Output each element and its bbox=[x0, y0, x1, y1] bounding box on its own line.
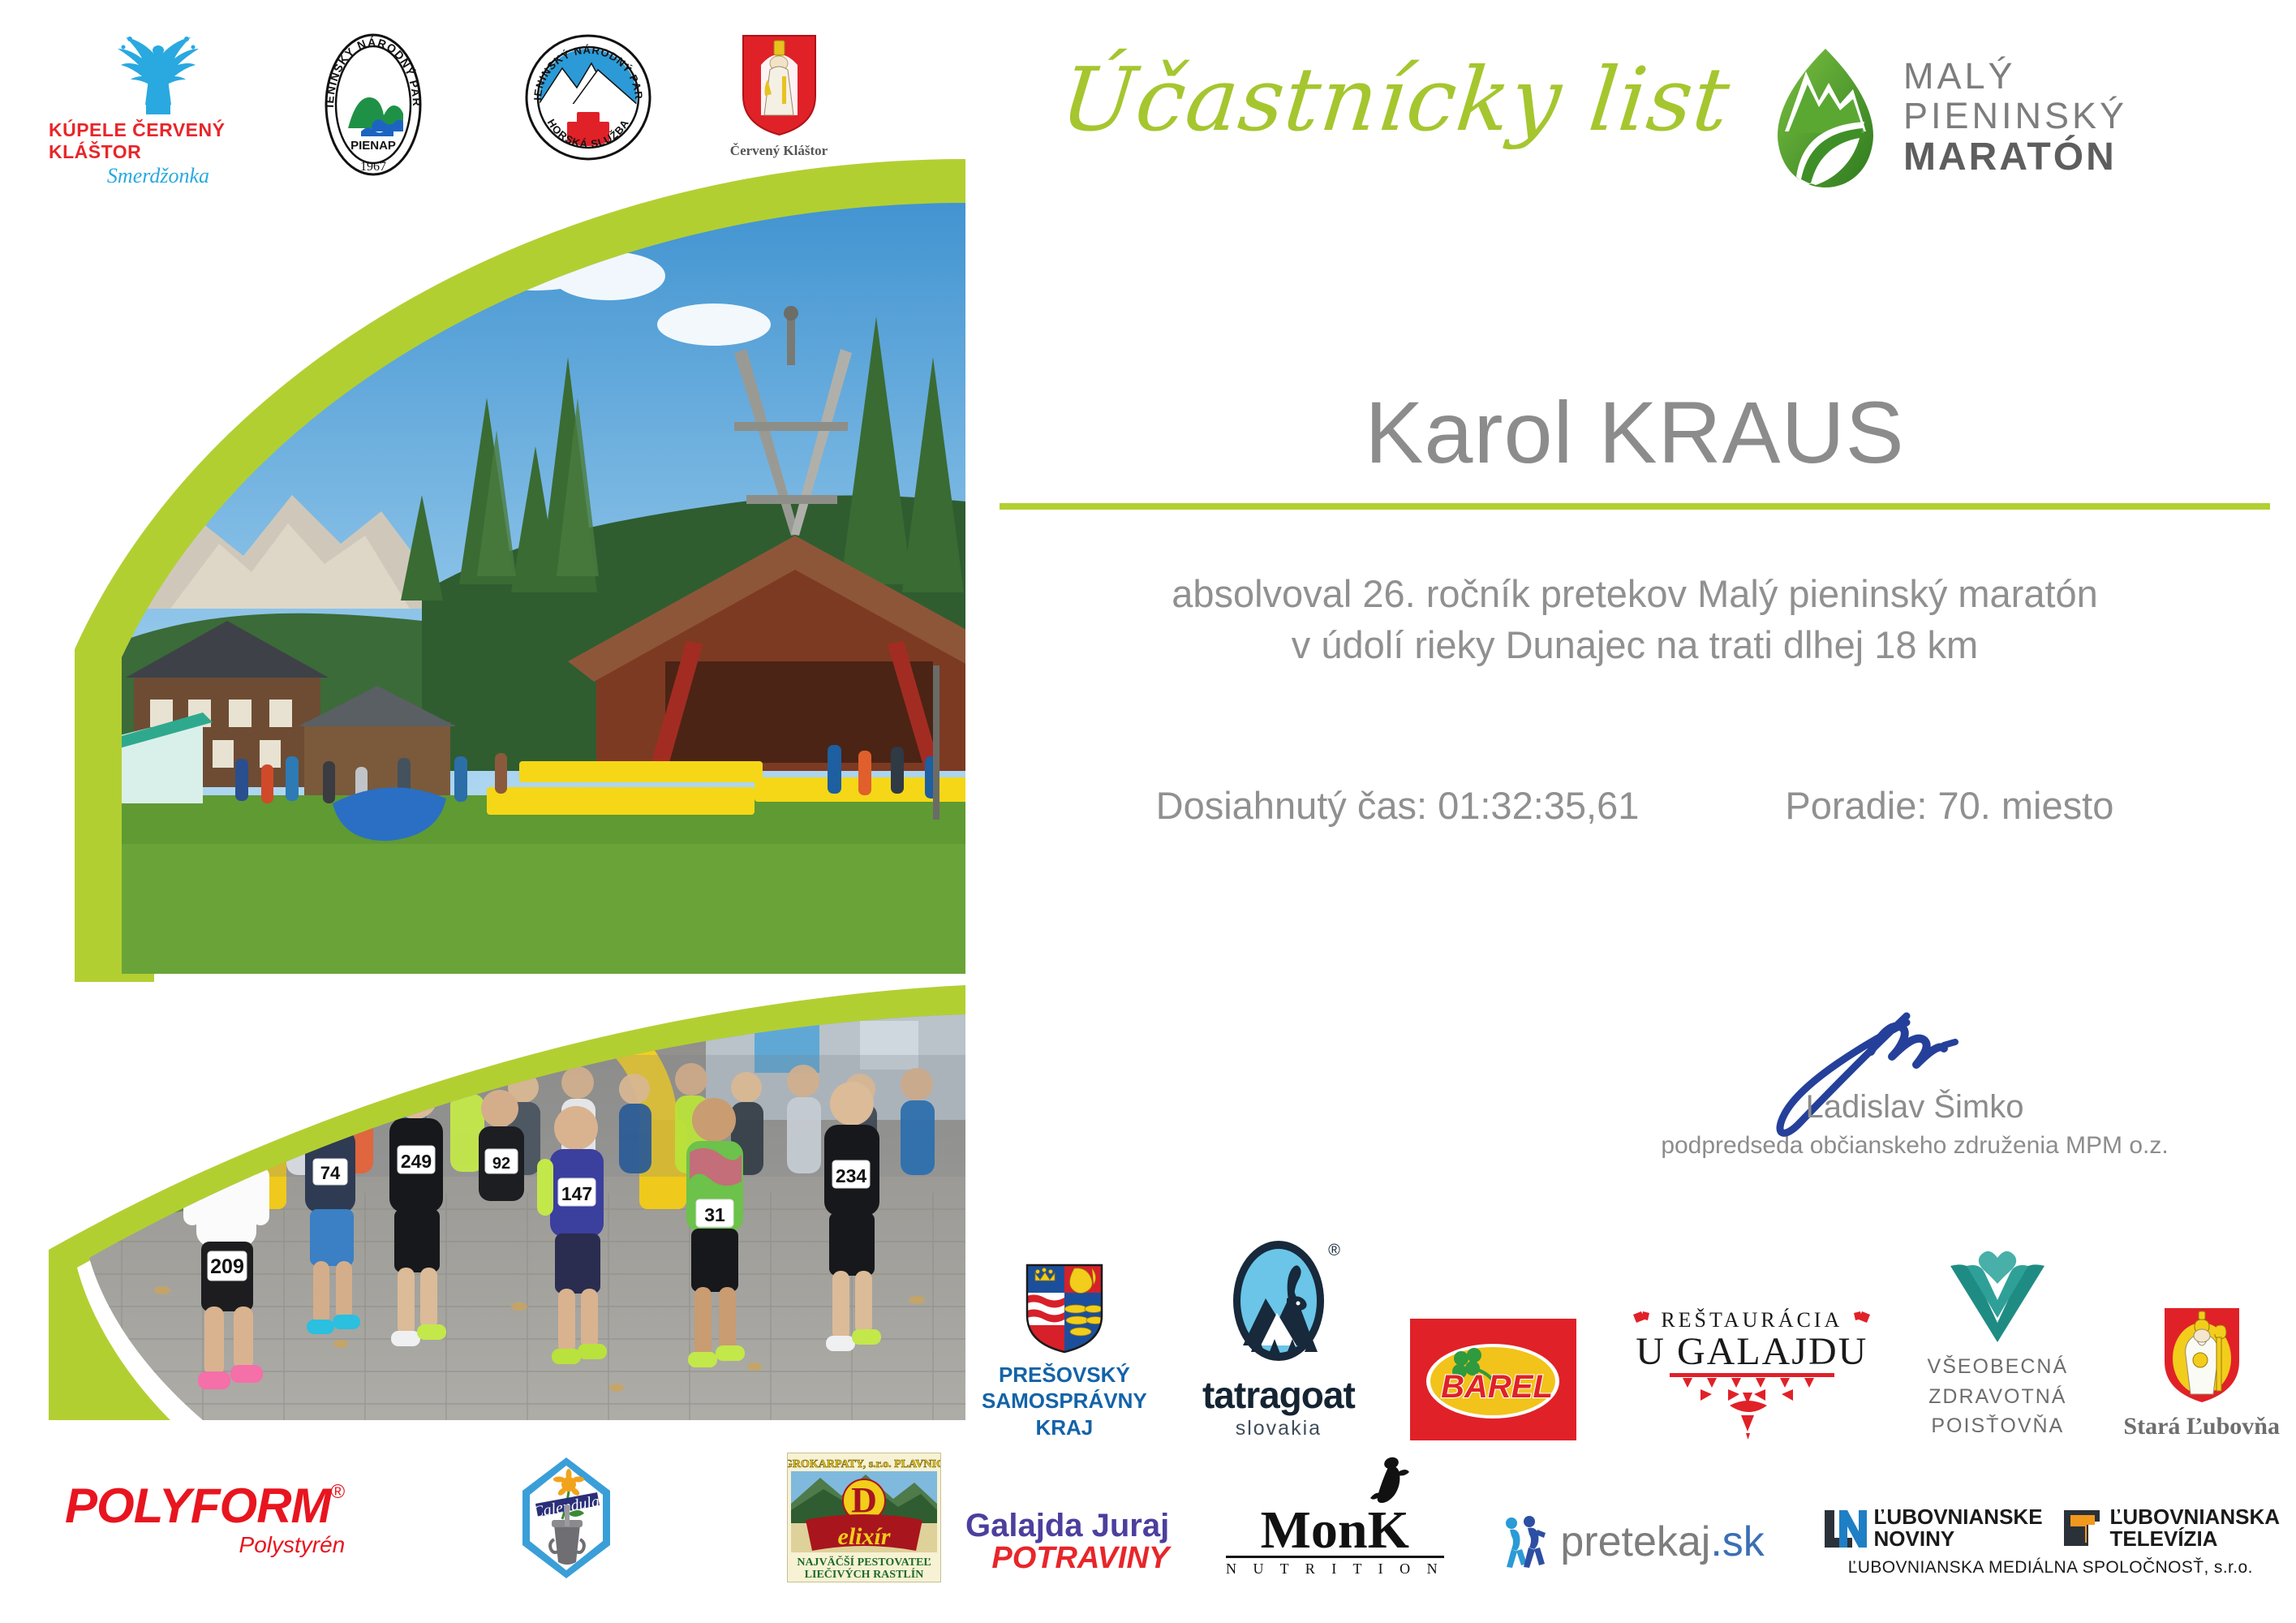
ln-label: ĽUBOVNIANSKE NOVINY bbox=[1874, 1506, 2043, 1551]
sponsor-vseobecna-zdravotna-poistovna: VŠEOBECNÁ ZDRAVOTNÁ POISŤOVŇA bbox=[1928, 1246, 2069, 1440]
svg-text:PIENINSKÝ MARATÓN: PIENINSKÝ MARATÓN bbox=[380, 1012, 562, 1031]
u-galajdu-line1: REŠTAURÁCIA bbox=[1661, 1308, 1842, 1332]
sponsor-u-galajdu: REŠTAURÁCIA U GALAJDU bbox=[1632, 1308, 1872, 1440]
galajda-line2: POTRAVINY bbox=[991, 1541, 1169, 1576]
amphitheatre-photo bbox=[97, 187, 965, 990]
svg-text:MALÝ: MALÝ bbox=[446, 992, 495, 1012]
psk-crest-icon bbox=[1024, 1262, 1105, 1355]
sponsor-lubovnianska-televizia: ĽUBOVNIANSKA TELEVÍZIA bbox=[2061, 1506, 2280, 1551]
svg-text:249: 249 bbox=[401, 1151, 432, 1172]
elixir-label: elixír bbox=[837, 1523, 890, 1550]
folk-ornament-icon bbox=[1632, 1310, 1653, 1331]
page-title: Účastnícky list bbox=[1009, 57, 1781, 144]
polyform-label: POLYFORM bbox=[65, 1478, 331, 1534]
ln-mark-icon bbox=[1821, 1507, 1867, 1549]
svg-text:D: D bbox=[851, 1480, 877, 1520]
vzp-mark-icon bbox=[1946, 1246, 2049, 1344]
agrokarpaty-elixir-icon: AGROKARPATY, s.r.o. PLAVNICA D elixír NA… bbox=[788, 1453, 940, 1582]
runners-icon bbox=[1500, 1515, 1549, 1569]
sponsor-lubovnianska-medialna: ĽUBOVNIANSKE NOVINY ĽUBOVNIANSKA TELEVÍZ… bbox=[1821, 1506, 2280, 1578]
vzp-label: VŠEOBECNÁ ZDRAVOTNÁ POISŤOVŇA bbox=[1928, 1352, 2069, 1440]
barel-logo-icon: BAREL bbox=[1422, 1331, 1564, 1428]
svg-text:31: 31 bbox=[704, 1204, 725, 1225]
result-row: Dosiahnutý čas: 01:32:35,61 Poradie: 70.… bbox=[998, 783, 2272, 828]
barel-text: BAREL bbox=[1441, 1369, 1553, 1405]
monk-label: MonK bbox=[1261, 1506, 1409, 1554]
galajda-line1: Galajda Juraj bbox=[965, 1508, 1169, 1544]
water-angel-icon bbox=[97, 32, 219, 118]
leaf-mountain-icon bbox=[1769, 47, 1882, 189]
tatragoat-icon bbox=[1230, 1238, 1327, 1364]
title-divider bbox=[1000, 503, 2270, 510]
ltv-label: ĽUBOVNIANSKA TELEVÍZIA bbox=[2110, 1506, 2280, 1551]
athlete-name: Karol KRAUS bbox=[998, 381, 2272, 483]
sponsor-lubovnianske-noviny: ĽUBOVNIANSKE NOVINY bbox=[1821, 1506, 2043, 1551]
svg-text:PIENAP: PIENAP bbox=[350, 139, 396, 153]
registered-mark: ® bbox=[331, 1481, 346, 1504]
stara-lubovna-label: Stará Ľubovňa bbox=[2123, 1413, 2280, 1440]
partner-logo-horska-sluzba: PIENINSKÝ NÁRODNÝ PARK HORSKÁ SLUŽBA bbox=[479, 32, 698, 162]
svg-text:74: 74 bbox=[320, 1163, 341, 1183]
finish-time: Dosiahnutý čas: 01:32:35,61 bbox=[1156, 783, 1640, 828]
ltv-mark-icon bbox=[2061, 1507, 2103, 1549]
runner-92: 92 bbox=[479, 1090, 524, 1201]
registered-mark: ® bbox=[1328, 1242, 1340, 1260]
sponsor-polyform: POLYFORM ® Polystyrén bbox=[65, 1478, 345, 1558]
sponsors-row-2: Galajda Juraj POTRAVINY MonK N U T R I T… bbox=[965, 1469, 2280, 1615]
certificate-body-line1: absolvoval 26. ročník pretekov Malý pien… bbox=[998, 568, 2272, 619]
sponsor-agrokarpaty-elixir: AGROKARPATY, s.r.o. PLAVNICA D elixír NA… bbox=[787, 1453, 941, 1582]
stara-lubovna-crest-icon bbox=[2161, 1305, 2242, 1406]
folk-ornament-icon bbox=[1851, 1310, 1872, 1331]
calendula-icon: Calendula bbox=[518, 1455, 615, 1581]
sponsor-tatragoat: ® tatragoat slovakia bbox=[1202, 1238, 1355, 1440]
placement: Poradie: 70. miesto bbox=[1785, 783, 2113, 828]
signatory-name: Ladislav Šimko bbox=[1606, 1089, 2223, 1126]
polyform-sub: Polystyrén bbox=[239, 1532, 346, 1558]
svg-text:147: 147 bbox=[561, 1183, 592, 1204]
monk-figure-icon bbox=[1367, 1456, 1412, 1505]
u-galajdu-line2: U GALAJDU bbox=[1636, 1332, 1868, 1371]
event-logo: MALÝ PIENINSKÝ MARATÓN bbox=[1769, 45, 2272, 191]
signature-block: Ladislav Šimko podpredseda občianskeho z… bbox=[1606, 998, 2223, 1160]
certificate-page: KÚPELE ČERVENÝ KLÁŠTOR Smerdžonka PIENIN… bbox=[0, 0, 2296, 1623]
agrokarpaty-top: AGROKARPATY, s.r.o. PLAVNICA bbox=[788, 1458, 940, 1470]
svg-text:209: 209 bbox=[210, 1255, 244, 1278]
pretekaj-label: pretekaj.sk bbox=[1560, 1518, 1764, 1566]
sponsor-pretekaj-sk: pretekaj.sk bbox=[1500, 1515, 1764, 1569]
tatragoat-label: tatragoat bbox=[1202, 1373, 1355, 1417]
svg-text:234: 234 bbox=[836, 1165, 867, 1186]
event-logo-line1: MALÝ bbox=[1903, 57, 2127, 97]
photo-montage: MALÝ PIENINSKÝ MARATÓN bbox=[0, 154, 965, 1420]
sponsor-barel: BAREL bbox=[1410, 1319, 1576, 1440]
sponsor-stara-lubovna: Stará Ľubovňa bbox=[2123, 1305, 2280, 1440]
certificate-body: absolvoval 26. ročník pretekov Malý pien… bbox=[998, 568, 2272, 671]
sponsor-presovsky-samospravny-kraj: PREŠOVSKÝ SAMOSPRÁVNY KRAJ bbox=[982, 1262, 1147, 1441]
sponsor-monk-nutrition: MonK N U T R I T I O N bbox=[1226, 1506, 1444, 1578]
certificate-body-line2: v údolí rieky Dunajec na trati dlhej 18 … bbox=[998, 619, 2272, 670]
svg-text:92: 92 bbox=[492, 1155, 510, 1173]
event-logo-line3: MARATÓN bbox=[1903, 136, 2127, 179]
coat-of-arms-icon bbox=[737, 32, 822, 138]
event-logo-line2: PIENINSKÝ bbox=[1903, 97, 2127, 136]
sponsors-left-row: POLYFORM ® Polystyrén bbox=[65, 1428, 941, 1607]
sponsor-galajda-juraj-potraviny: Galajda Juraj POTRAVINY bbox=[965, 1508, 1169, 1576]
tatragoat-sub: slovakia bbox=[1236, 1417, 1322, 1440]
elixir-line1: NAJVÄČŠÍ PESTOVATEĽ bbox=[797, 1555, 931, 1569]
event-logo-wordmark: MALÝ PIENINSKÝ MARATÓN bbox=[1903, 57, 2127, 178]
photo-montage-svg: MALÝ PIENINSKÝ MARATÓN bbox=[0, 154, 965, 1420]
folk-pattern-icon bbox=[1665, 1371, 1839, 1440]
sponsor-calendula: Calendula bbox=[518, 1455, 615, 1581]
elixir-line2: LIEČIVÝCH RASTLÍN bbox=[805, 1567, 924, 1581]
sponsors-row-1: PREŠOVSKÝ SAMOSPRÁVNY KRAJ bbox=[982, 1238, 2280, 1440]
psk-label: PREŠOVSKÝ SAMOSPRÁVNY KRAJ bbox=[982, 1362, 1147, 1441]
mountain-rescue-seal-icon: PIENINSKÝ NÁRODNÝ PARK HORSKÁ SLUŽBA bbox=[523, 32, 653, 162]
media-company-label: ĽUBOVNIANSKA MEDIÁLNA SPOLOČNOSŤ, s.r.o. bbox=[1848, 1558, 2253, 1578]
partner-logo-cerveny-klastor: Červený Kláštor bbox=[698, 32, 860, 159]
